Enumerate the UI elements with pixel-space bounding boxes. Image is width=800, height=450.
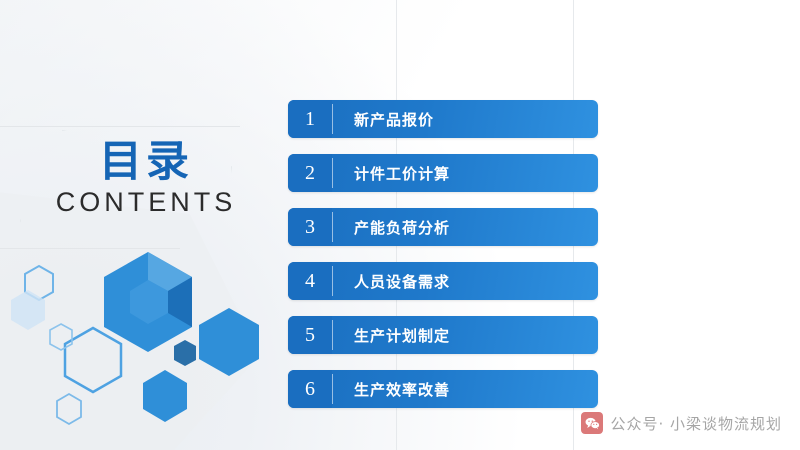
- list-item-divider: [332, 374, 333, 404]
- list-item[interactable]: 1 新产品报价: [288, 100, 598, 138]
- title-english: CONTENTS: [16, 187, 276, 218]
- watermark: 公众号· 小梁谈物流规划: [581, 412, 782, 434]
- hexagon-outline-bottom-icon: [54, 392, 84, 426]
- list-item-number-box: 6: [288, 370, 332, 408]
- hexagon-dark-accent-icon: [172, 338, 198, 368]
- guide-line-horizontal-top: [0, 126, 240, 127]
- list-item-divider: [332, 320, 333, 350]
- list-item-number-box: 1: [288, 100, 332, 138]
- contents-list: 1 新产品报价 2 计件工价计算 3 产能负荷分析 4: [288, 100, 598, 424]
- list-item-divider: [332, 212, 333, 242]
- list-item-number: 5: [305, 325, 315, 345]
- list-item-label: 生产计划制定: [354, 316, 450, 354]
- list-item[interactable]: 3 产能负荷分析: [288, 208, 598, 246]
- list-item[interactable]: 6 生产效率改善: [288, 370, 598, 408]
- list-item-number-box: 2: [288, 154, 332, 192]
- hexagon-filled-medium-icon: [196, 306, 262, 378]
- list-item-divider: [332, 266, 333, 296]
- watermark-text: 公众号· 小梁谈物流规划: [610, 413, 782, 434]
- hexagon-filled-small-icon: [140, 368, 190, 424]
- list-item[interactable]: 2 计件工价计算: [288, 154, 598, 192]
- list-item-label: 计件工价计算: [354, 154, 450, 192]
- list-item-divider: [332, 104, 333, 134]
- list-item-label: 产能负荷分析: [354, 208, 450, 246]
- title-chinese: 目录: [16, 140, 276, 185]
- list-item-number: 3: [305, 217, 315, 237]
- list-item-number-box: 3: [288, 208, 332, 246]
- list-item-number: 1: [305, 109, 315, 129]
- hexagon-pale-icon: [8, 288, 48, 332]
- guide-line-horizontal-bottom: [0, 248, 180, 249]
- hexagon-outline-tiny-icon: [48, 322, 74, 352]
- page-title: 目录 CONTENTS: [16, 140, 276, 218]
- list-item-number: 2: [305, 163, 315, 183]
- list-item-label: 生产效率改善: [354, 370, 450, 408]
- list-item-number: 6: [305, 379, 315, 399]
- list-item-number: 4: [305, 271, 315, 291]
- slide-canvas: 目录 CONTENTS 1 新产品报价 2 计件工价计算 3 产: [0, 0, 800, 450]
- list-item-number-box: 5: [288, 316, 332, 354]
- list-item-bar[interactable]: [288, 100, 598, 138]
- list-item-label: 人员设备需求: [354, 262, 450, 300]
- list-item-divider: [332, 158, 333, 188]
- list-item[interactable]: 5 生产计划制定: [288, 316, 598, 354]
- list-item[interactable]: 4 人员设备需求: [288, 262, 598, 300]
- wechat-icon: [581, 412, 603, 434]
- list-item-number-box: 4: [288, 262, 332, 300]
- list-item-label: 新产品报价: [354, 100, 434, 138]
